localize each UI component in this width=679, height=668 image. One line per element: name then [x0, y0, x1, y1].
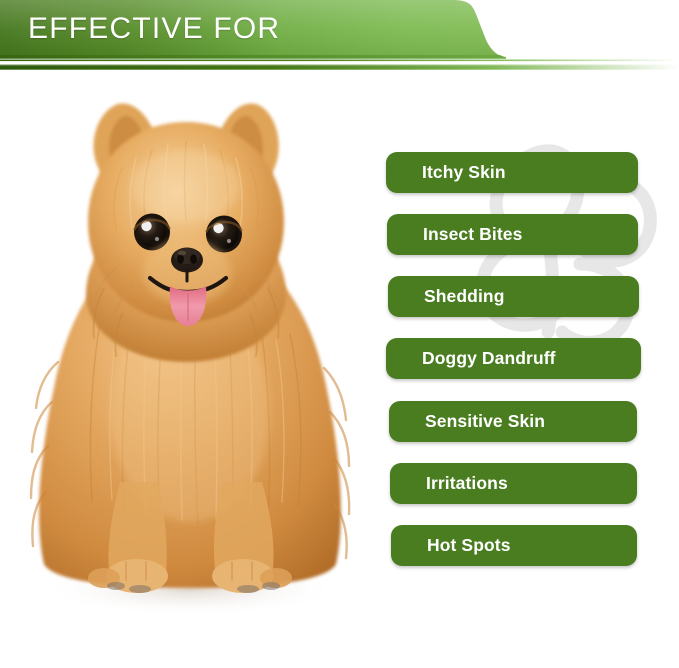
effective-for-infographic: EFFECTIVE FOR	[0, 0, 679, 668]
condition-pill-label: Insect Bites	[423, 224, 522, 245]
condition-pill-hot-spots[interactable]: Hot Spots	[391, 525, 637, 566]
condition-pill-label: Shedding	[424, 286, 505, 307]
condition-pill-sensitive-skin[interactable]: Sensitive Skin	[389, 401, 637, 442]
condition-pill-label: Hot Spots	[427, 535, 511, 556]
condition-pill-label: Doggy Dandruff	[422, 348, 556, 369]
condition-pill-itchy-skin[interactable]: Itchy Skin	[386, 152, 638, 193]
condition-pill-insect-bites[interactable]: Insect Bites	[387, 214, 638, 255]
condition-pill-label: Irritations	[426, 473, 508, 494]
condition-list: Itchy Skin Insect Bites Shedding Doggy D…	[0, 0, 679, 668]
condition-pill-irritations[interactable]: Irritations	[390, 463, 637, 504]
condition-pill-label: Sensitive Skin	[425, 411, 545, 432]
condition-pill-doggy-dandruff[interactable]: Doggy Dandruff	[386, 338, 641, 379]
condition-pill-label: Itchy Skin	[422, 162, 506, 183]
condition-pill-shedding[interactable]: Shedding	[388, 276, 639, 317]
